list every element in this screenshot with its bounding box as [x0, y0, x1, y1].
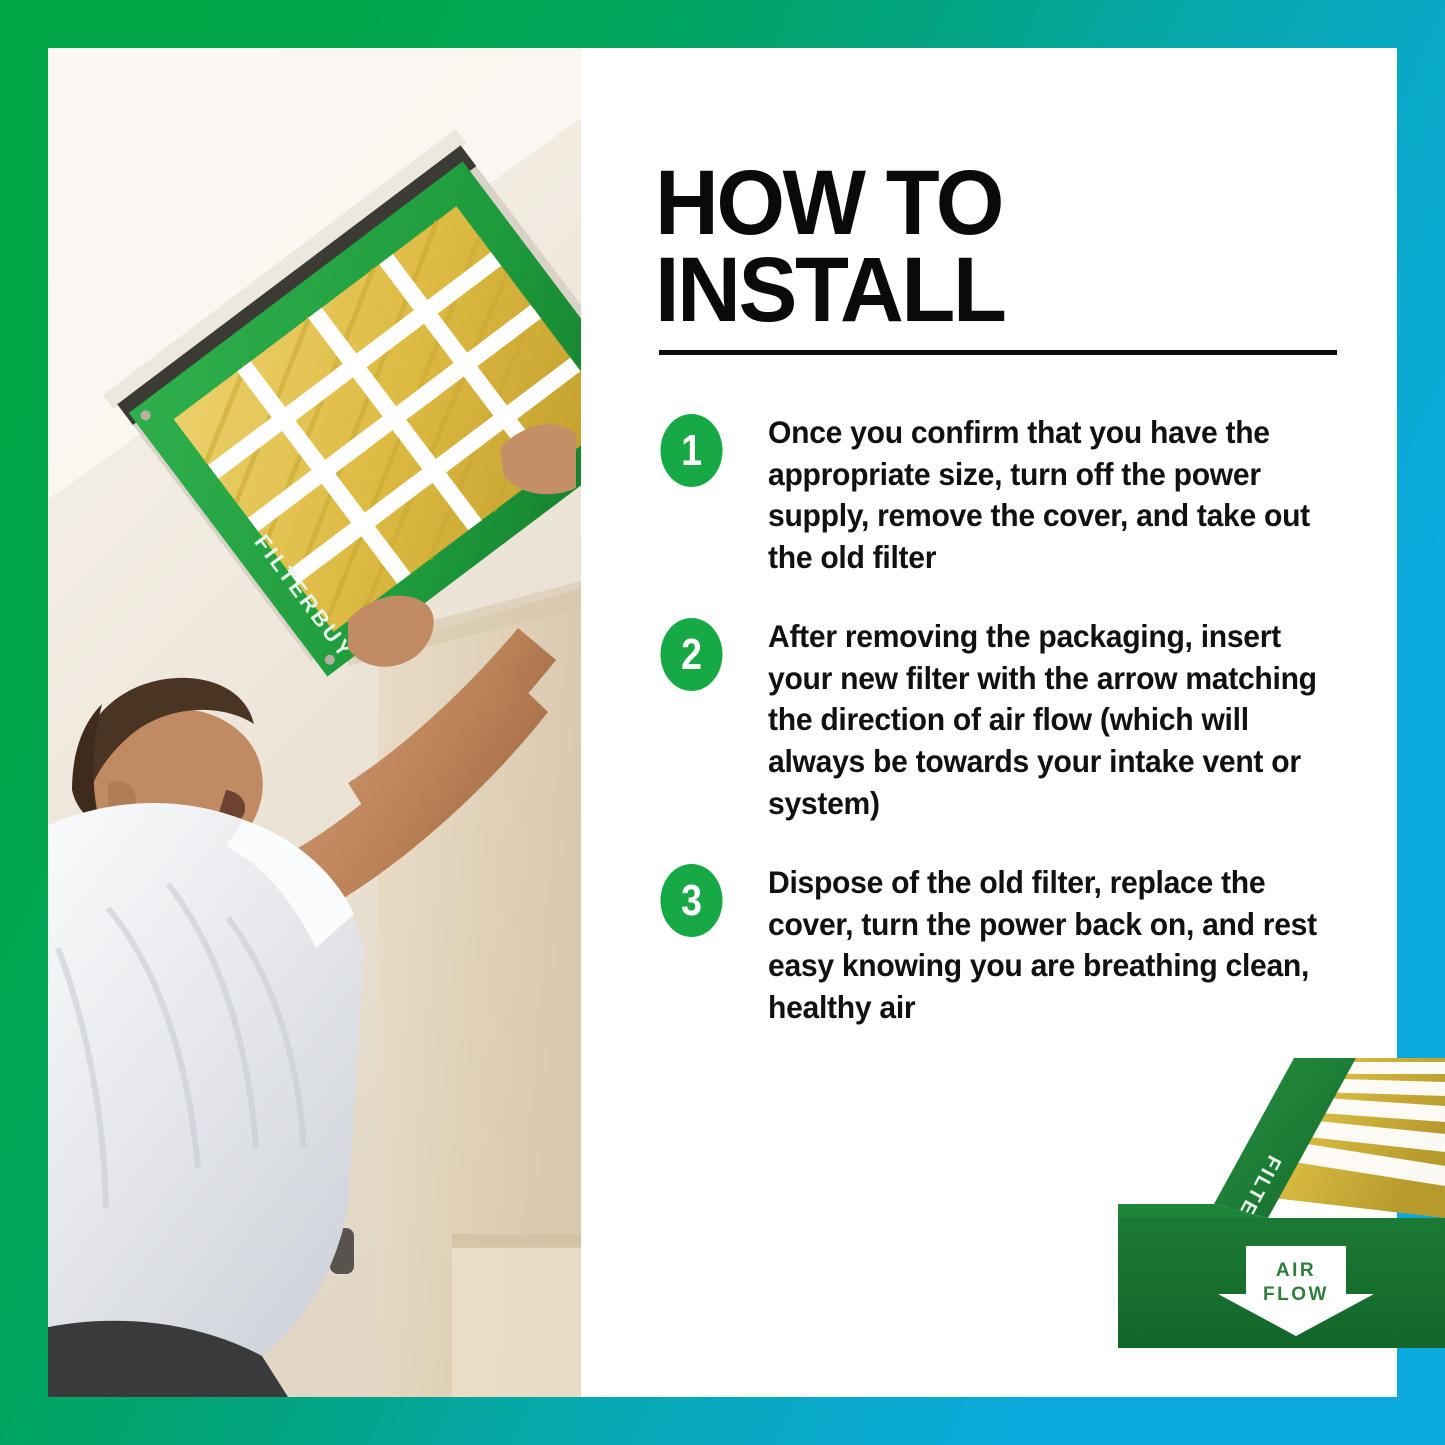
list-item: 3 Dispose of the old filter, replace the… — [655, 862, 1375, 1028]
poster-root: FILTERBUY — [0, 0, 1445, 1445]
step-text-1: Once you confirm that you have the appro… — [768, 412, 1348, 578]
install-photo-illustration: FILTERBUY — [48, 48, 581, 1397]
steps-list: 1 Once you confirm that you have the app… — [655, 412, 1375, 1067]
instructions-panel: HOW TO INSTALL 1 Once you confirm that y… — [655, 48, 1397, 1397]
step-number-badge-3: 3 — [660, 864, 722, 937]
step-text-3: Dispose of the old filter, replace the c… — [768, 862, 1348, 1028]
poster-canvas: FILTERBUY — [48, 48, 1397, 1397]
page-title: HOW TO INSTALL — [655, 160, 1327, 335]
step-number-badge-1: 1 — [660, 414, 722, 487]
step-number-badge-2: 2 — [660, 618, 722, 691]
list-item: 1 Once you confirm that you have the app… — [655, 412, 1375, 578]
step-text-2: After removing the packaging, insert you… — [768, 616, 1348, 824]
list-item: 2 After removing the packaging, insert y… — [655, 616, 1375, 824]
install-photo: FILTERBUY — [48, 48, 581, 1397]
title-divider — [659, 350, 1337, 355]
